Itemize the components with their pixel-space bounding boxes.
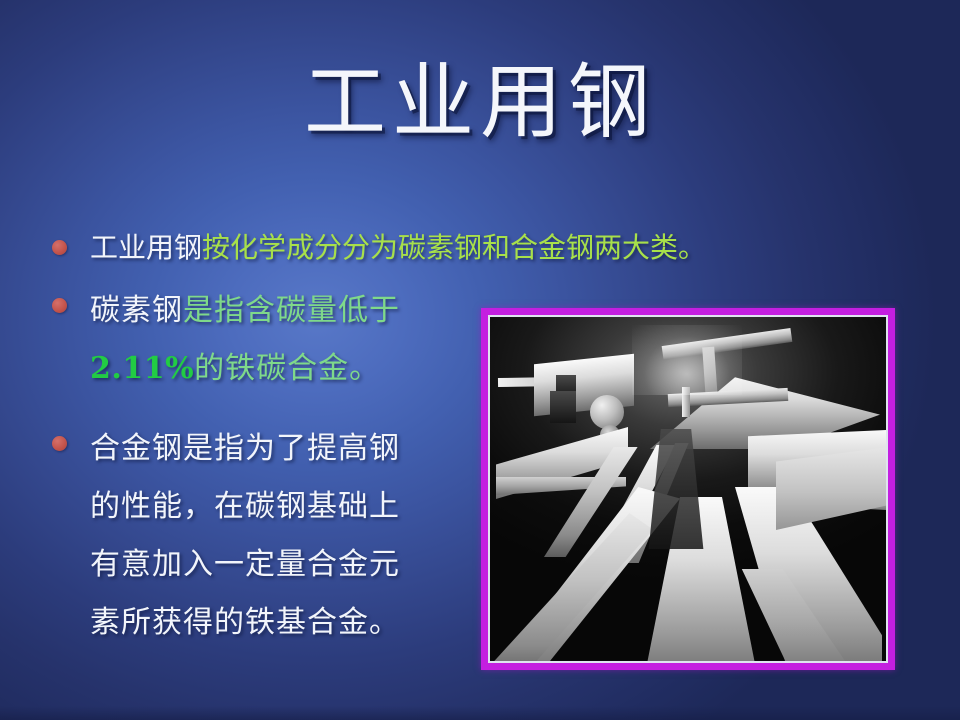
bullet-dot-icon	[52, 436, 67, 451]
bullet-2-line-1: 碳素钢是指含碳量低于	[90, 282, 494, 340]
bullet-2-seg-3: 2.11%	[90, 351, 194, 386]
bullet-dot-icon	[52, 298, 67, 313]
bullet-3-line-1: 合金钢是指为了提高钢	[90, 420, 494, 478]
bullet-1-seg-1: 工业用钢	[90, 231, 202, 264]
bullet-3-line-4: 素所获得的铁基合金。	[90, 594, 494, 652]
footer-shadow-band	[0, 706, 960, 720]
slide-title: 工业用钢	[0, 62, 960, 144]
bullet-3-seg-4: 素所获得的铁基合金。	[90, 605, 400, 640]
steel-photo-frame	[481, 308, 895, 670]
slide-body: 工业用钢按化学成分分为碳素钢和合金钢两大类。 碳素钢是指含碳量低于 2.11%的…	[44, 226, 494, 658]
bullet-3-seg-1: 合金钢是指为了提高钢	[90, 431, 400, 466]
bullet-2-line-2: 2.11%的铁碳合金。	[90, 340, 494, 398]
bullet-1-line-1: 工业用钢按化学成分分为碳素钢和合金钢两大类。	[90, 226, 960, 270]
bullet-3-seg-3: 有意加入一定量合金元	[90, 547, 400, 582]
bullet-3-seg-2: 的性能，在碳钢基础上	[90, 489, 400, 524]
bullet-item-1: 工业用钢按化学成分分为碳素钢和合金钢两大类。	[44, 226, 960, 270]
bullet-2-seg-1: 碳素钢	[90, 293, 183, 328]
bullet-item-3: 合金钢是指为了提高钢 的性能，在碳钢基础上 有意加入一定量合金元 素所获得的铁基…	[44, 420, 494, 652]
presentation-slide: 工业用钢 工业用钢按化学成分分为碳素钢和合金钢两大类。 碳素钢是指含碳量低于 2…	[0, 0, 960, 720]
bullet-1-seg-2: 按化学成分分为碳素钢和合金钢两大类。	[202, 231, 706, 264]
photo-inner-border	[488, 315, 888, 663]
bullet-item-2: 碳素钢是指含碳量低于 2.11%的铁碳合金。	[44, 282, 494, 398]
bullet-2-seg-4: 的铁碳合金。	[194, 351, 380, 386]
bullet-2-seg-2: 是指含碳量低于	[183, 293, 400, 328]
bullet-3-line-3: 有意加入一定量合金元	[90, 536, 494, 594]
bullet-dot-icon	[52, 240, 67, 255]
steel-products-photo	[490, 317, 886, 661]
bullet-3-line-2: 的性能，在碳钢基础上	[90, 478, 494, 536]
